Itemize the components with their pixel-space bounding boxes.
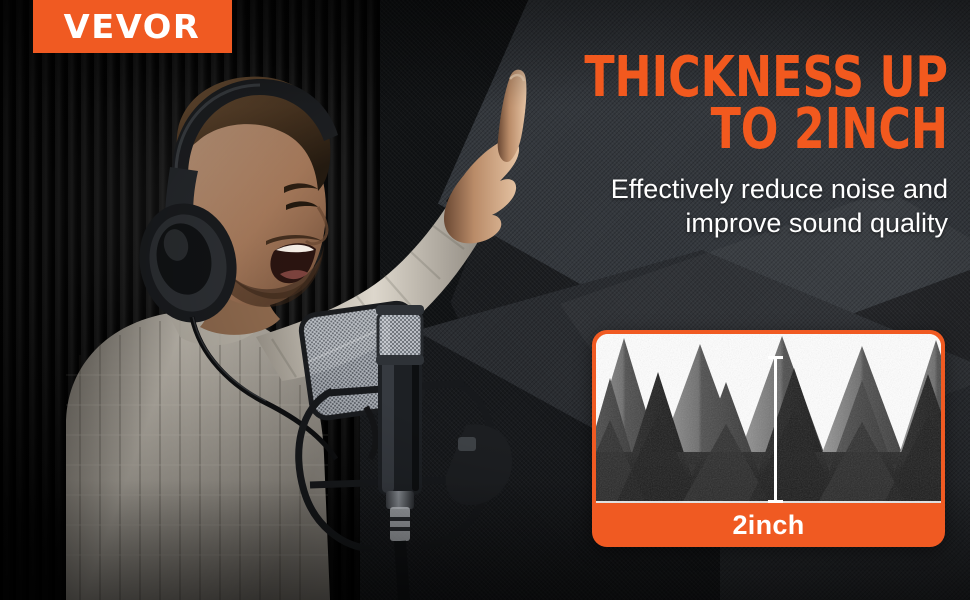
foam-panel-photo — [596, 334, 941, 503]
card-label: 2inch — [596, 503, 941, 547]
headline: THICKNESS UP TO 2INCH — [578, 52, 948, 155]
product-detail-card: 2inch — [592, 330, 945, 547]
foam-base-rule — [596, 501, 941, 503]
card-label-text: 2inch — [732, 510, 804, 541]
dimension-cap-top — [768, 356, 783, 359]
headline-line-1: THICKNESS UP — [578, 52, 948, 104]
subheadline: Effectively reduce noise and improve sou… — [528, 173, 948, 240]
vevor-logo: VEVOR — [33, 0, 232, 53]
headline-block: THICKNESS UP TO 2INCH Effectively reduce… — [528, 52, 948, 240]
thickness-dimension-line — [774, 356, 777, 503]
headline-line-2: TO 2INCH — [578, 104, 948, 156]
vevor-logo-text: VEVOR — [64, 10, 201, 43]
subheadline-line-2: improve sound quality — [528, 207, 948, 240]
vevor-acoustic-foam-banner: VEVOR THICKNESS UP TO 2INCH Effectively … — [0, 0, 970, 600]
subheadline-line-1: Effectively reduce noise and — [528, 173, 948, 206]
